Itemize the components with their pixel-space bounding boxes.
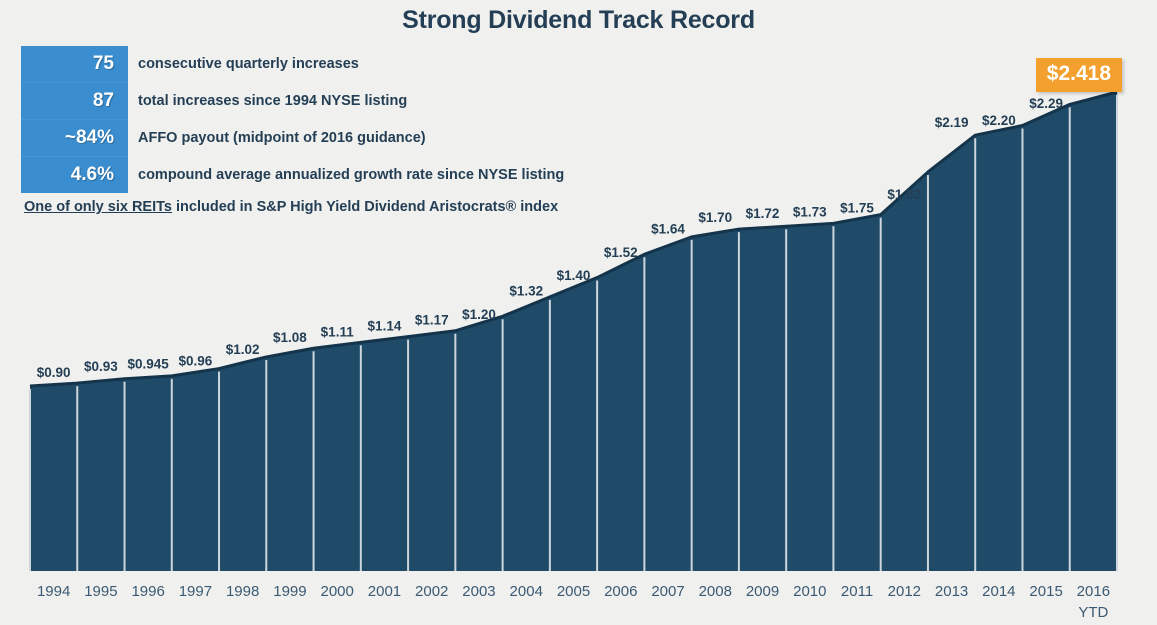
x-axis-tick-label: 1998: [226, 583, 259, 600]
x-axis-tick-label: 2004: [510, 583, 543, 600]
x-axis-tick-label: 2000: [321, 583, 354, 600]
dividend-chart-slide: Strong Dividend Track Record 75 87 ~84% …: [0, 0, 1157, 625]
x-axis-tick-label: 2006: [604, 583, 637, 600]
data-label: $1.70: [698, 210, 732, 225]
data-label: $1.75: [840, 200, 874, 215]
area-series: [30, 92, 1117, 571]
x-axis-tick-label: 2008: [699, 583, 732, 600]
data-label: $1.32: [509, 284, 543, 299]
data-label: $2.20: [982, 113, 1016, 128]
data-label: $1.73: [793, 204, 827, 219]
x-axis-tick-label: 2011: [841, 583, 873, 600]
x-axis-labels: 1994199519961997199819992000200120022003…: [37, 583, 1110, 621]
area-chart-plot: $0.90$0.93$0.945$0.96$1.02$1.08$1.11$1.1…: [0, 0, 1157, 625]
data-label: $1.64: [651, 222, 685, 237]
data-label: $0.90: [37, 365, 71, 380]
data-label: $1.17: [415, 313, 449, 328]
data-label: $1.52: [604, 245, 638, 260]
data-label: $1.08: [273, 330, 307, 345]
data-label: $1.72: [746, 206, 780, 221]
x-axis-tick-label: 2013: [935, 583, 968, 600]
x-axis-tick-label: 2009: [746, 583, 779, 600]
x-axis-tick-label: 2014: [982, 583, 1015, 600]
data-label: $1.40: [557, 268, 591, 283]
data-label: $1.82: [887, 187, 921, 202]
data-label: $0.945: [128, 356, 170, 371]
x-axis-tick-label: 1996: [131, 583, 164, 600]
data-label: $1.14: [368, 319, 402, 334]
x-axis-tick-label: 1994: [37, 583, 70, 600]
area-fill: [30, 92, 1117, 571]
x-axis-tick-label: 2010: [793, 583, 826, 600]
x-axis-tick-label: 2002: [415, 583, 448, 600]
x-axis-tick-label: 1997: [179, 583, 212, 600]
x-axis-tick-label: 2001: [368, 583, 401, 600]
data-label: $1.20: [462, 307, 496, 322]
x-axis-tick-label: 1995: [84, 583, 117, 600]
x-axis-tick-label: 2016: [1077, 583, 1110, 600]
x-axis-tick-label: 2015: [1029, 583, 1062, 600]
x-axis-tick-label: 2012: [888, 583, 921, 600]
data-label: $0.93: [84, 359, 118, 374]
x-axis-tick-label: 1999: [273, 583, 306, 600]
x-axis-tick-sublabel: YTD: [1078, 604, 1108, 621]
data-label: $2.29: [1029, 96, 1063, 111]
data-label: $0.96: [179, 353, 213, 368]
highlight-badge: $2.418: [1036, 58, 1122, 92]
data-label: $2.19: [935, 115, 969, 130]
data-label: $1.02: [226, 342, 260, 357]
x-axis-tick-label: 2003: [462, 583, 495, 600]
data-label: $1.11: [321, 324, 355, 339]
x-axis-tick-label: 2007: [651, 583, 684, 600]
x-axis-tick-label: 2005: [557, 583, 590, 600]
